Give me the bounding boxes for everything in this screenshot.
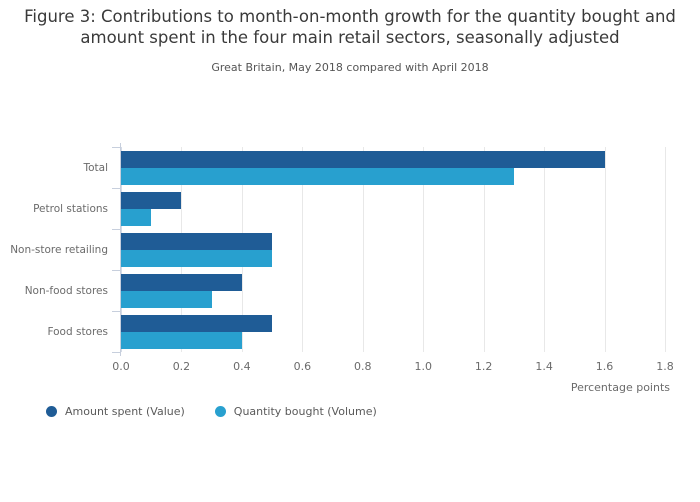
x-axis-tick-label: 0.8 (354, 360, 372, 373)
x-axis-tick-label: 0.2 (173, 360, 191, 373)
x-axis-tick-label: 1.0 (414, 360, 432, 373)
bar-non-store-retailing-value[interactable] (121, 233, 272, 250)
x-axis-tick-label: 0.4 (233, 360, 251, 373)
legend-swatch-icon (46, 406, 57, 417)
x-axis-tick-label: 0.0 (112, 360, 130, 373)
chart-legend: Amount spent (Value)Quantity bought (Vol… (46, 405, 377, 418)
x-axis-tick-label: 1.8 (656, 360, 674, 373)
x-axis-tick-label: 0.6 (294, 360, 312, 373)
y-axis-tick (112, 352, 120, 353)
x-axis-tick-label: 1.6 (596, 360, 614, 373)
y-axis-tick (112, 311, 120, 312)
legend-label: Quantity bought (Volume) (234, 405, 377, 418)
chart-header: Figure 3: Contributions to month-on-mont… (0, 6, 700, 75)
bar-petrol-stations-volume[interactable] (121, 209, 151, 226)
legend-label: Amount spent (Value) (65, 405, 185, 418)
bar-total-volume[interactable] (121, 168, 514, 185)
bar-petrol-stations-value[interactable] (121, 192, 181, 209)
y-axis-label-petrol-stations: Petrol stations (33, 203, 108, 215)
y-axis-tick (112, 270, 120, 271)
bar-non-food-stores-volume[interactable] (121, 291, 212, 308)
bar-non-food-stores-value[interactable] (121, 274, 242, 291)
bar-total-value[interactable] (121, 151, 605, 168)
bar-food-stores-volume[interactable] (121, 332, 242, 349)
x-axis-tick-label: 1.2 (475, 360, 493, 373)
gridline-x (605, 147, 606, 352)
x-axis-tick-label: 1.4 (535, 360, 553, 373)
legend-item-quantity-bought-volume[interactable]: Quantity bought (Volume) (215, 405, 377, 418)
gridline-x (665, 147, 666, 352)
legend-swatch-icon (215, 406, 226, 417)
bar-non-store-retailing-volume[interactable] (121, 250, 272, 267)
gridline-x (544, 147, 545, 352)
legend-item-amount-spent-value[interactable]: Amount spent (Value) (46, 405, 185, 418)
x-axis-title: Percentage points (571, 381, 670, 394)
y-axis-label-total: Total (83, 162, 108, 174)
y-axis-tick (112, 229, 120, 230)
chart-title: Figure 3: Contributions to month-on-mont… (0, 6, 700, 48)
y-axis-label-food-stores: Food stores (47, 326, 108, 338)
plot-area (121, 147, 665, 352)
chart-subtitle: Great Britain, May 2018 compared with Ap… (0, 61, 700, 75)
y-axis-tick (112, 147, 120, 148)
y-axis-label-non-food-stores: Non-food stores (25, 285, 108, 297)
y-axis-label-non-store-retailing: Non-store retailing (10, 244, 108, 256)
bar-food-stores-value[interactable] (121, 315, 272, 332)
y-axis-tick (112, 188, 120, 189)
